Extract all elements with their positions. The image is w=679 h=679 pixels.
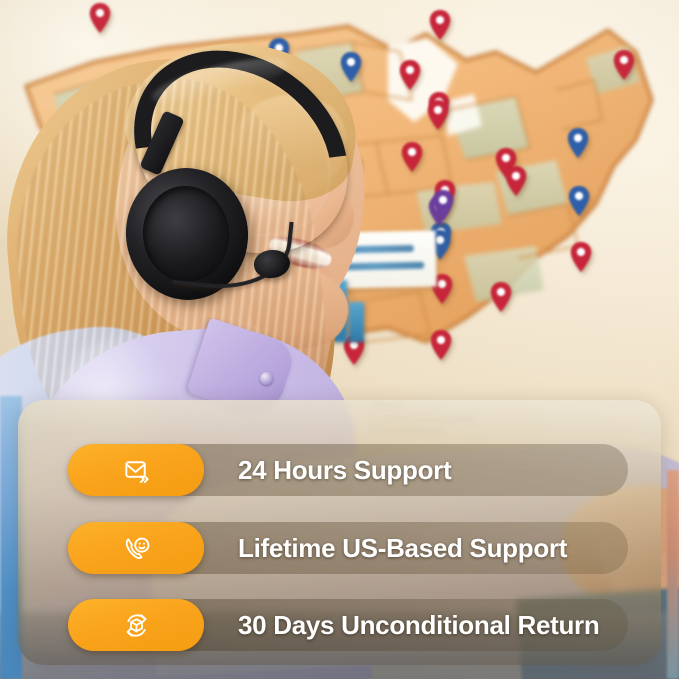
feature-label: Lifetime US-Based Support bbox=[238, 533, 567, 564]
feature-row: 30 Days Unconditional Return bbox=[68, 599, 628, 651]
feature-list: 24 Hours Support Lifetime US-Based Suppo… bbox=[18, 400, 661, 665]
feature-label: 30 Days Unconditional Return bbox=[238, 610, 599, 641]
box-return-icon bbox=[121, 610, 152, 641]
feature-label: 24 Hours Support bbox=[238, 455, 451, 486]
envelope-fast-icon bbox=[121, 455, 152, 486]
product-feature-banner: 24 Hours Support Lifetime US-Based Suppo… bbox=[0, 0, 679, 679]
right-color-strip bbox=[667, 470, 679, 679]
feature-icon-pill bbox=[68, 522, 204, 574]
feature-overlay-panel: 24 Hours Support Lifetime US-Based Suppo… bbox=[18, 400, 661, 665]
phone-smile-icon bbox=[121, 533, 152, 564]
feature-row: 24 Hours Support bbox=[68, 444, 628, 496]
collar-button bbox=[260, 372, 273, 385]
feature-icon-pill bbox=[68, 444, 204, 496]
feature-row: Lifetime US-Based Support bbox=[68, 522, 628, 574]
feature-icon-pill bbox=[68, 599, 204, 651]
